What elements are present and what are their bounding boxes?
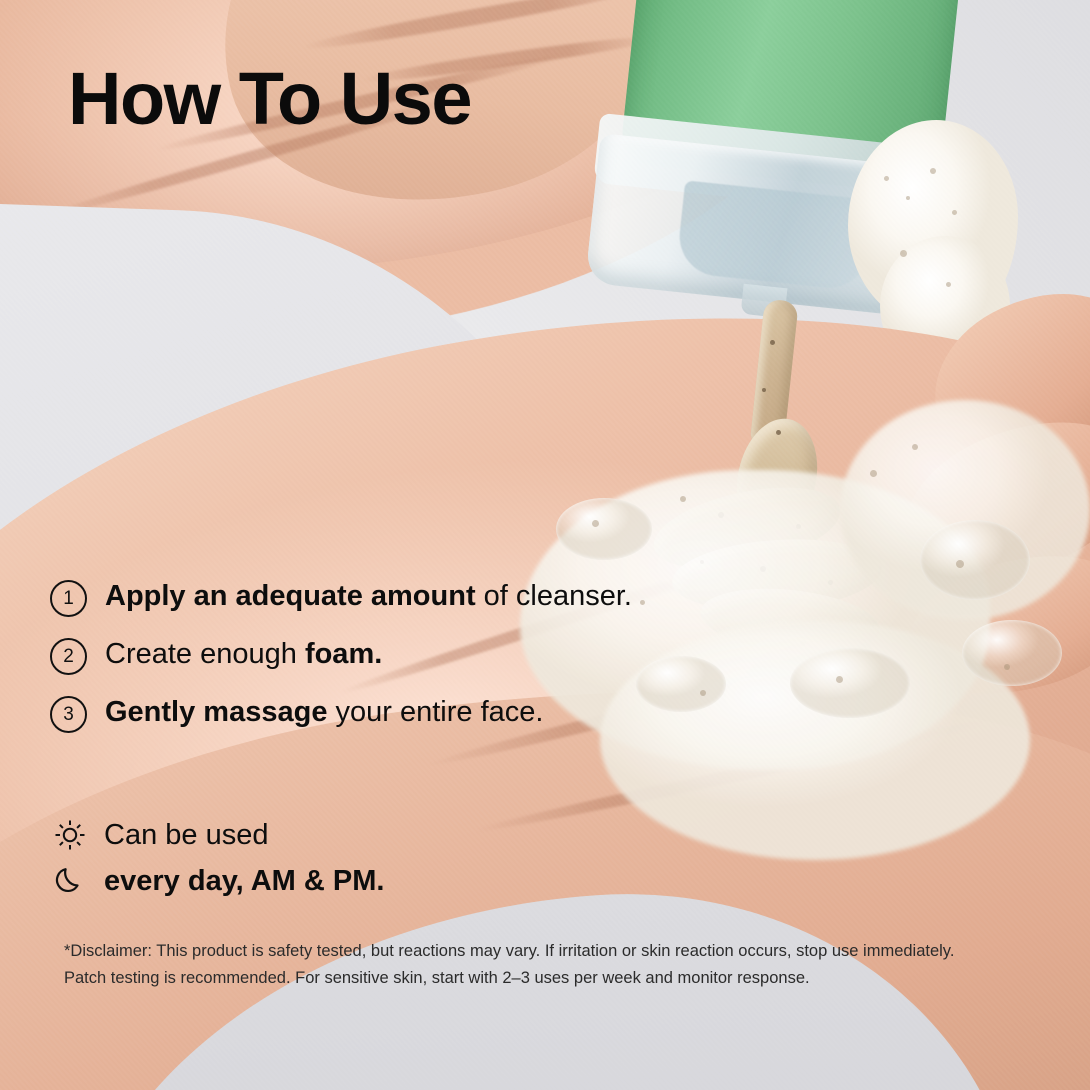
steps-list: 1 Apply an adequate amount of cleanser. … <box>50 577 690 751</box>
step-number-badge: 2 <box>50 638 87 675</box>
step-create-foam: 2 Create enough foam. <box>50 635 690 675</box>
step-text: Create enough foam. <box>105 635 382 673</box>
step-text-bold: Apply an adequate amount <box>105 580 476 612</box>
step-text-regular: of cleanser. <box>476 580 632 612</box>
usage-frequency: Can be used every day, AM & PM. <box>50 812 650 904</box>
step-text: Apply an adequate amount of cleanser. <box>105 577 632 615</box>
disclaimer-text: *Disclaimer: This product is safety test… <box>64 938 969 991</box>
step-apply-cleanser: 1 Apply an adequate amount of cleanser. <box>50 577 690 617</box>
usage-text-day: Can be used <box>104 818 268 853</box>
step-number-badge: 3 <box>50 696 87 733</box>
infographic-canvas: How To Use 1 Apply an adequate amount of… <box>0 0 1090 1090</box>
step-text-regular: your entire face. <box>327 696 543 728</box>
sun-icon <box>50 815 90 855</box>
step-text-bold: foam. <box>305 638 382 670</box>
step-number-badge: 1 <box>50 580 87 617</box>
text-overlay: How To Use 1 Apply an adequate amount of… <box>0 0 1090 1090</box>
step-text-bold: Gently massage <box>105 696 327 728</box>
page-title: How To Use <box>68 62 471 136</box>
usage-row-night: every day, AM & PM. <box>50 858 650 904</box>
usage-text-night: every day, AM & PM. <box>104 864 384 899</box>
step-text: Gently massage your entire face. <box>105 693 543 731</box>
step-gently-massage: 3 Gently massage your entire face. <box>50 693 690 733</box>
step-text-regular: Create enough <box>105 638 305 670</box>
moon-icon <box>50 861 90 901</box>
usage-row-day: Can be used <box>50 812 650 858</box>
